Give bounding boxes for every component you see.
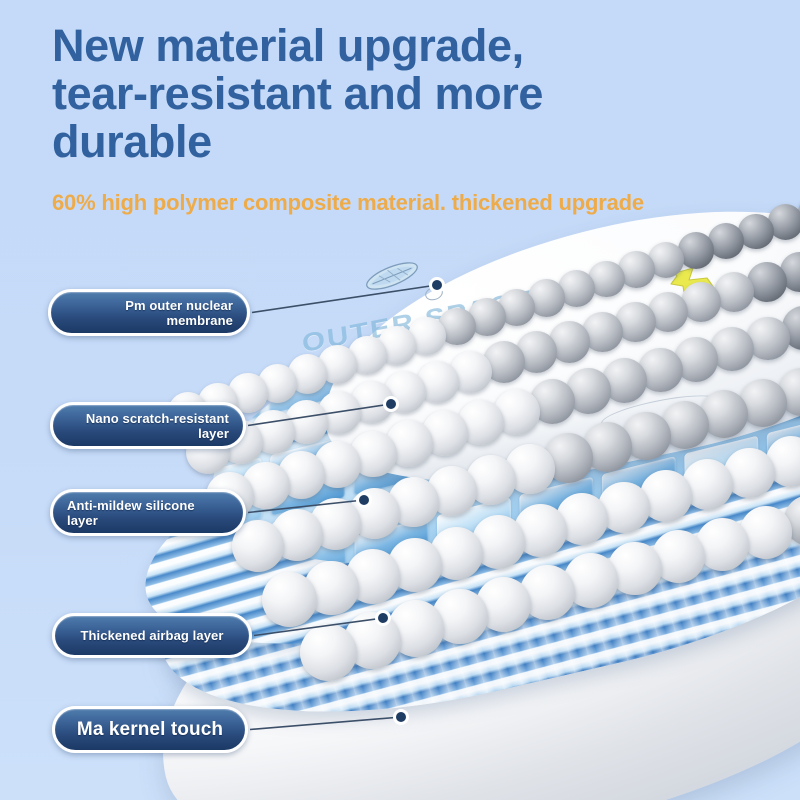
callout-pill-thickened-airbag-layer[interactable]: Thickened airbag layer (52, 613, 252, 658)
callout-pill-pm-outer-nuclear-membrane[interactable]: Pm outer nuclear membrane (48, 289, 250, 336)
callout-label-text: Thickened airbag layer (69, 628, 235, 643)
callout-label-text: Nano scratch-resistant layer (67, 411, 229, 441)
callout-label-text: Pm outer nuclear membrane (65, 298, 233, 328)
infographic-page: OUTER SPACE Pm outer nuclear m (0, 0, 800, 800)
callout-label-text: Anti-mildew silicone layer (67, 498, 229, 528)
callout-pill-ma-kernel-touch[interactable]: Ma kernel touch (52, 706, 248, 753)
callout-label-group: Pm outer nuclear membraneNano scratch-re… (0, 0, 800, 800)
callout-pill-nano-scratch-resistant-layer[interactable]: Nano scratch-resistant layer (50, 402, 246, 449)
callout-pill-anti-mildew-silicone-layer[interactable]: Anti-mildew silicone layer (50, 489, 246, 536)
callout-label-text: Ma kernel touch (69, 719, 231, 740)
